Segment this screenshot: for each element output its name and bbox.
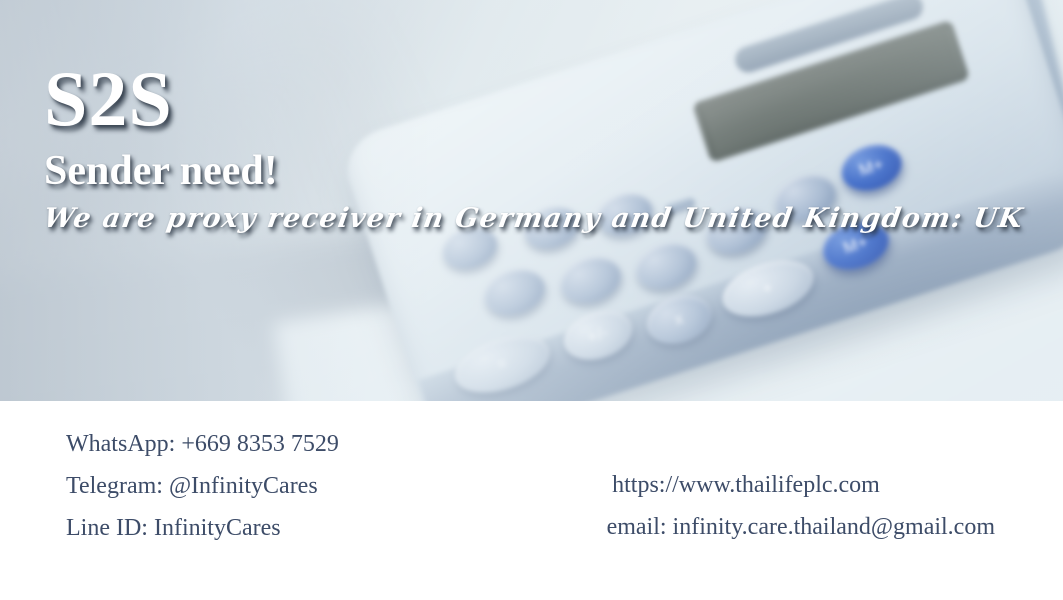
contact-line-id[interactable]: Line ID: InfinityCares xyxy=(66,507,339,549)
contact-whatsapp[interactable]: WhatsApp: +669 8353 7529 xyxy=(66,423,339,465)
headline-subtitle: Sender need! xyxy=(44,147,1023,195)
contact-column-left: WhatsApp: +669 8353 7529 Telegram: @Infi… xyxy=(66,423,339,549)
promotional-banner: M+ = +/- x + M+ S2S Sender need! We are … xyxy=(0,0,1063,600)
contact-telegram[interactable]: Telegram: @InfinityCares xyxy=(66,465,339,507)
contact-column-right: https://www.thailifeplc.com email: infin… xyxy=(505,464,995,548)
contact-email[interactable]: email: infinity.care.thailand@gmail.com xyxy=(505,506,995,548)
hero-photo-area: M+ = +/- x + M+ S2S Sender need! We are … xyxy=(0,0,1063,401)
headline-block: S2S Sender need! We are proxy receiver i… xyxy=(44,62,1023,234)
brand-title: S2S xyxy=(44,62,1023,137)
contact-footer: WhatsApp: +669 8353 7529 Telegram: @Infi… xyxy=(0,401,1063,600)
contact-website[interactable]: https://www.thailifeplc.com xyxy=(505,464,995,506)
headline-tagline: We are proxy receiver in Germany and Uni… xyxy=(42,203,1026,234)
